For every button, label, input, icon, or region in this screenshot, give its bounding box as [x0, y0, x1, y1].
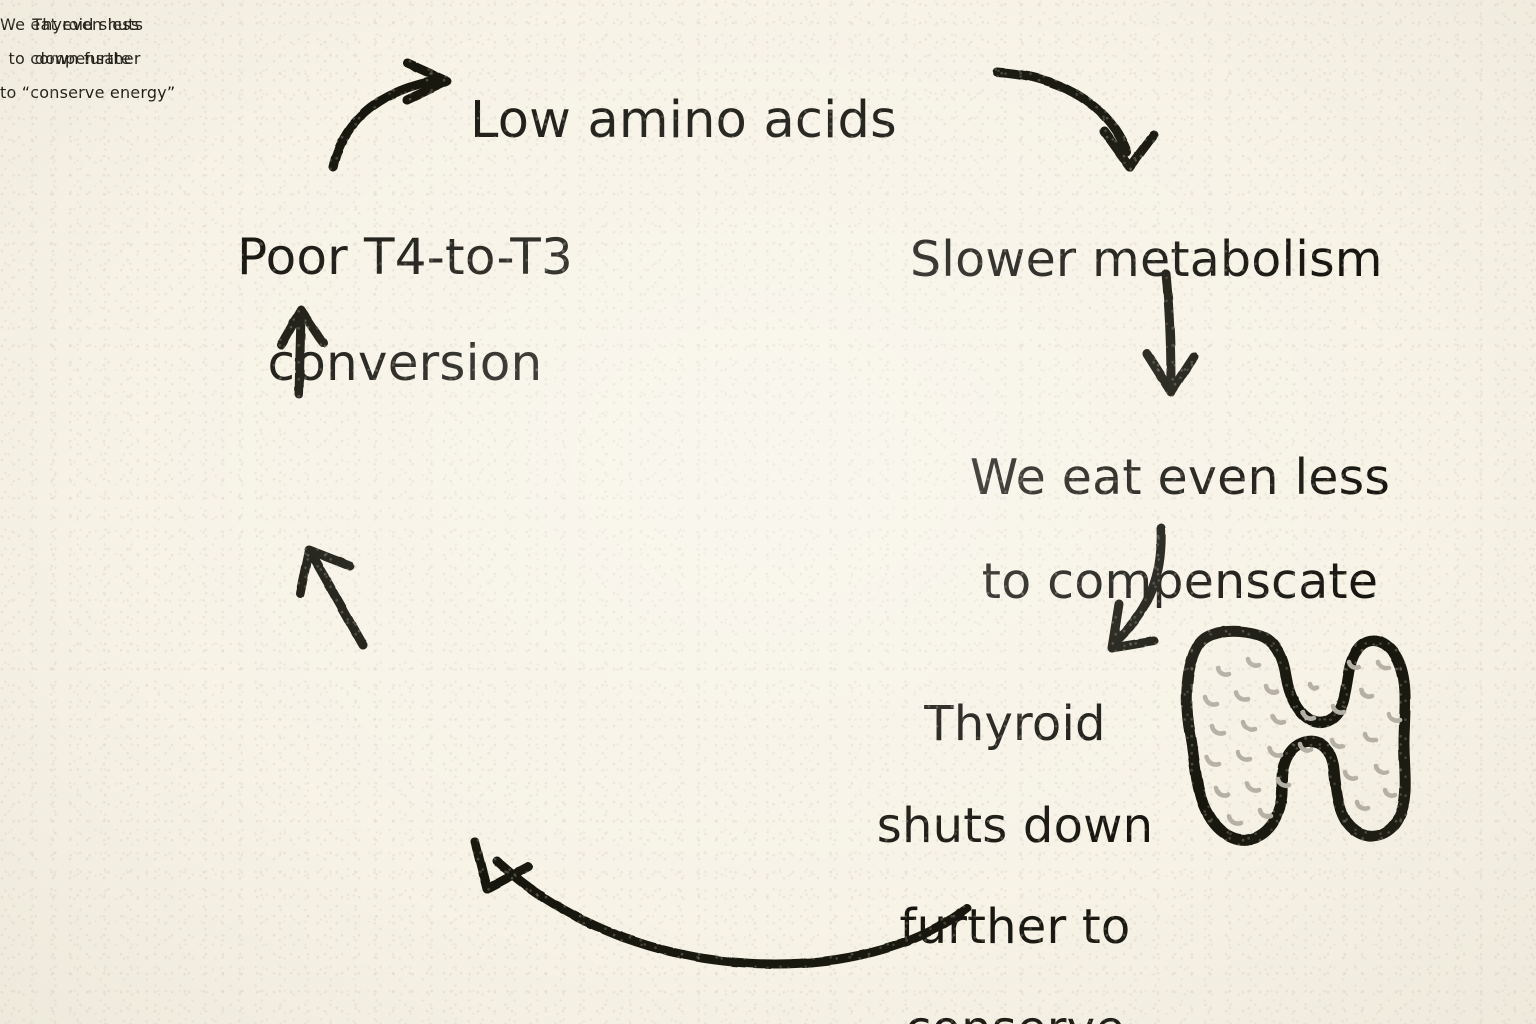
node-line: to compensate	[0, 51, 139, 68]
node-line: to “conserve energy”	[0, 85, 175, 102]
node-line: Thyroid	[820, 699, 1210, 750]
node-line: We eat even less	[0, 17, 139, 34]
node-line: We eat even less	[930, 452, 1430, 504]
node-line: further to	[820, 902, 1210, 953]
node-line: Slower metabolism	[910, 234, 1450, 286]
node-slower-metabolism: Slower metabolism	[910, 182, 1450, 338]
thyroid-gland-illustration	[1187, 631, 1405, 840]
node-line: Poor T4-to-T3	[195, 231, 615, 284]
node-poor-conversion: Poor T4-to-T3 conversion	[195, 178, 615, 443]
node-eat-less-left: We eat even less to compensate	[0, 0, 139, 85]
arrow-amino-to-metabolism	[997, 72, 1154, 167]
arrow-conversion-to-amino	[333, 63, 447, 167]
node-line: conversion	[195, 337, 615, 390]
node-line: shuts down	[820, 801, 1210, 852]
diagram-canvas: Low amino acids Slower metabolism We eat…	[0, 0, 1536, 1024]
node-line: to compenscate	[930, 556, 1430, 608]
node-line: conserve energy	[820, 1004, 1210, 1024]
node-thyroid-shutdown-right: Thyroid shuts down further to conserve e…	[820, 648, 1210, 1024]
arrow-thyroid-left-to-eatless	[300, 550, 363, 645]
node-line: Low amino acids	[470, 94, 990, 148]
node-eat-less-right: We eat even less to compenscate	[930, 400, 1430, 660]
